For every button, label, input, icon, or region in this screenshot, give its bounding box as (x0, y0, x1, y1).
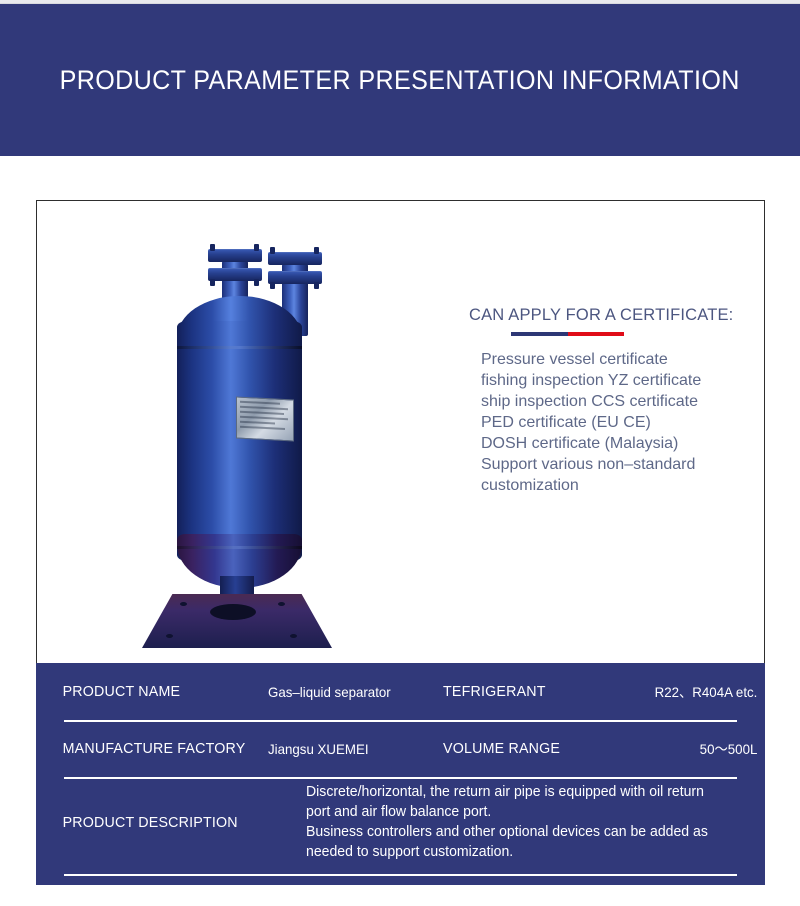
certificate-item: PED certificate (EU CE) (481, 412, 769, 433)
certificate-item: Pressure vessel certificate (481, 349, 769, 370)
certificate-item: ship inspection CCS certificate (481, 391, 769, 412)
page-title: PRODUCT PARAMETER PRESENTATION INFORMATI… (60, 65, 740, 96)
table-rule (64, 874, 737, 876)
weld-ring-lower (177, 546, 302, 549)
description-line: Business controllers and other optional … (306, 822, 723, 842)
header-banner: PRODUCT PARAMETER PRESENTATION INFORMATI… (0, 4, 800, 156)
description-line: needed to support customization. (306, 842, 723, 862)
spec-value-refrigerant: R22、R404A etc. (619, 682, 757, 702)
vessel-nameplate (236, 396, 294, 441)
product-photo (37, 201, 437, 663)
base-bolt-hole (166, 634, 173, 638)
spec-label-refrigerant: TEFRIGERANT (443, 683, 611, 700)
specification-table: PRODUCT NAME Gas–liquid separator TEFRIG… (36, 663, 765, 885)
spec-value-volume-range: 50～500L (619, 739, 757, 759)
flange-right-upper (268, 252, 322, 265)
spec-value-product-name: Gas–liquid separator (268, 684, 434, 700)
table-row: MANUFACTURE FACTORY Jiangsu XUEMEI VOLUM… (36, 720, 765, 777)
base-bolt-hole (180, 602, 187, 606)
content-card: CAN APPLY FOR A CERTIFICATE: Pressure ve… (36, 200, 765, 663)
certificate-list: Pressure vessel certificate fishing insp… (481, 349, 769, 496)
divider-segment-navy (511, 332, 568, 336)
weld-ring-upper (177, 346, 302, 349)
spec-label-volume-range: VOLUME RANGE (443, 740, 611, 757)
spec-value-manufacture-factory: Jiangsu XUEMEI (268, 741, 434, 757)
certificate-item: customization (481, 475, 769, 496)
certificate-item: Support various non–standard (481, 454, 769, 475)
flange-right-lower (268, 271, 322, 284)
spec-label-product-name: PRODUCT NAME (36, 683, 256, 700)
certificate-heading: CAN APPLY FOR A CERTIFICATE: (469, 305, 760, 325)
spec-label-product-description: PRODUCT DESCRIPTION (36, 814, 293, 831)
spec-label-manufacture-factory: MANUFACTURE FACTORY (36, 740, 256, 757)
certificate-block: CAN APPLY FOR A CERTIFICATE: Pressure ve… (469, 305, 769, 496)
table-row-description: PRODUCT DESCRIPTION Discrete/horizontal,… (36, 777, 765, 867)
description-line: port and air flow balance port. (306, 802, 723, 822)
base-plate-center-hole (210, 604, 256, 620)
table-row: PRODUCT NAME Gas–liquid separator TEFRIG… (36, 663, 765, 720)
description-line: Discrete/horizontal, the return air pipe… (306, 782, 723, 802)
certificate-item: fishing inspection YZ certificate (481, 370, 769, 391)
spec-value-product-description: Discrete/horizontal, the return air pipe… (306, 782, 723, 862)
flange-left-upper (208, 249, 262, 262)
flange-left-lower (208, 268, 262, 281)
divider-segment-red (568, 332, 625, 336)
certificate-divider (511, 332, 624, 336)
certificate-item: DOSH certificate (Malaysia) (481, 433, 769, 454)
base-bolt-hole (278, 602, 285, 606)
base-bolt-hole (290, 634, 297, 638)
base-plate (142, 594, 332, 648)
gas-liquid-separator-illustration (122, 216, 352, 646)
